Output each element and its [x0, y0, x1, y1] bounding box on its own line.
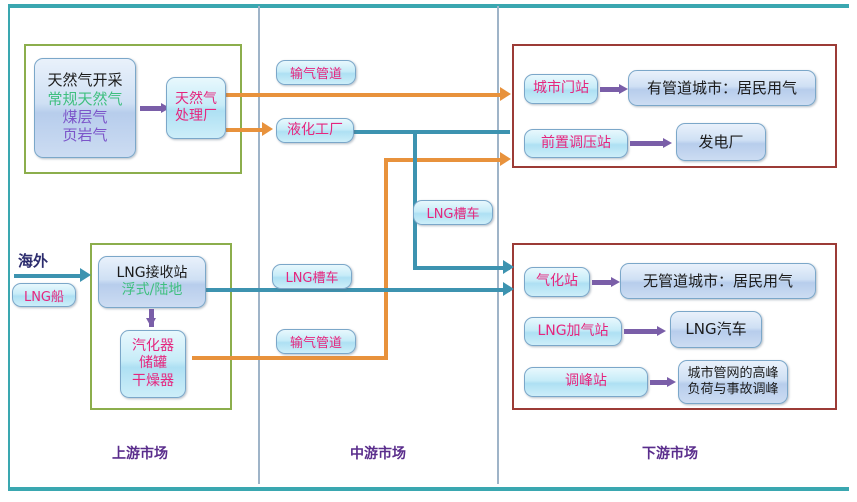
- node-gas-plant[interactable]: 天然气 处理厂: [166, 77, 226, 139]
- pipe-lng-to-gasification: [413, 266, 510, 270]
- node-lng-refuel-station-label: LNG加气站: [537, 323, 608, 340]
- arrow-peakshaving-to-peakload: [650, 377, 676, 387]
- pipe-lng-from-terminal: [196, 288, 510, 292]
- node-city-gate[interactable]: 城市门站: [524, 74, 598, 104]
- node-gas-plant-line-1: 处理厂: [175, 108, 217, 125]
- node-lng-terminal-line-0: LNG接收站: [116, 265, 187, 282]
- caption-downstream-market: 下游市场: [590, 443, 750, 463]
- node-peak-load[interactable]: 城市管网的高峰 负荷与事故调峰: [678, 360, 788, 404]
- caption-midstream-market: 中游市场: [298, 443, 458, 463]
- node-vaporizer[interactable]: 汽化器 储罐 干燥器: [120, 330, 186, 398]
- label-pipeline-top[interactable]: 输气管道: [276, 60, 356, 85]
- label-pipeline-bottom[interactable]: 输气管道: [276, 329, 356, 354]
- node-gas-plant-line-0: 天然气: [175, 91, 217, 108]
- arrowhead-gas-top: [500, 87, 511, 101]
- label-lng-ship[interactable]: LNG船: [12, 283, 76, 307]
- node-city-gate-label: 城市门站: [533, 80, 589, 97]
- node-gas-extraction[interactable]: 天然气开采 常规天然气 煤层气 页岩气: [34, 58, 136, 158]
- node-lng-terminal[interactable]: LNG接收站 浮式/陆地: [98, 256, 206, 308]
- pipe-gas-top: [226, 93, 506, 97]
- pipe-gas-riser: [384, 158, 388, 360]
- pipe-lng-ship-inbound: [14, 274, 86, 278]
- node-power-plant-label: 发电厂: [698, 133, 743, 151]
- node-piped-city-label: 有管道城市：居民用气: [647, 79, 797, 97]
- node-peak-shaving-station[interactable]: 调峰站: [524, 367, 648, 397]
- node-peak-shaving-station-label: 调峰站: [565, 373, 607, 390]
- node-gas-extraction-line-2: 煤层气: [47, 108, 122, 126]
- arrow-terminal-to-vaporizer: [146, 309, 156, 327]
- diagram-canvas: 天然气开采 常规天然气 煤层气 页岩气 天然气 处理厂 LNG接收站 浮式/陆地…: [0, 0, 857, 502]
- node-lng-vehicle[interactable]: LNG汽车: [670, 311, 762, 348]
- node-unpiped-city[interactable]: 无管道城市：居民用气: [620, 263, 816, 299]
- arrowhead-lng-upper: [503, 260, 514, 274]
- arrow-gasification-to-unpipedcity: [592, 277, 620, 287]
- node-liquefaction-plant[interactable]: 液化工厂: [276, 118, 354, 143]
- frame-bottom-border: [8, 487, 849, 491]
- node-lng-terminal-line-1: 浮式/陆地: [116, 282, 187, 299]
- pipe-lng-from-liquefaction: [354, 130, 510, 134]
- arrowhead-gas-to-liquefaction: [262, 122, 273, 136]
- node-lng-vehicle-label: LNG汽车: [685, 320, 746, 338]
- node-unpiped-city-label: 无管道城市：居民用气: [643, 272, 793, 290]
- column-divider-midstream-downstream: [497, 6, 499, 484]
- pipe-lng-drop: [413, 130, 417, 270]
- node-pre-regulator-label: 前置调压站: [541, 135, 611, 152]
- arrowhead-lng-ship: [80, 268, 91, 282]
- arrowhead-gas-mid: [500, 152, 511, 166]
- node-gas-extraction-line-1: 常规天然气: [47, 90, 122, 108]
- pipe-gas-from-vaporizer: [192, 356, 388, 360]
- caption-upstream-market: 上游市场: [60, 443, 220, 463]
- node-gas-extraction-line-3: 页岩气: [47, 126, 122, 144]
- node-gasification-station[interactable]: 气化站: [524, 267, 590, 297]
- node-piped-city[interactable]: 有管道城市：居民用气: [628, 70, 816, 106]
- arrow-citygate-to-pipedcity: [600, 84, 628, 94]
- label-overseas: 海外: [18, 250, 48, 271]
- label-lng-truck-low[interactable]: LNG槽车: [272, 264, 352, 289]
- column-divider-upstream-midstream: [258, 6, 260, 484]
- arrow-regulator-to-powerplant: [630, 138, 672, 148]
- node-peak-load-line-1: 负荷与事故调峰: [687, 382, 778, 398]
- node-pre-regulator[interactable]: 前置调压站: [524, 129, 628, 158]
- node-peak-load-line-0: 城市管网的高峰: [687, 366, 778, 382]
- label-lng-truck-mid[interactable]: LNG槽车: [413, 200, 493, 225]
- node-liquefaction-plant-label: 液化工厂: [287, 122, 343, 139]
- frame-left-border: [8, 4, 10, 491]
- node-power-plant[interactable]: 发电厂: [676, 123, 766, 161]
- arrowhead-lng-lower: [503, 282, 514, 296]
- arrow-refuel-to-vehicle: [624, 326, 666, 336]
- pipe-gas-mid: [384, 158, 506, 162]
- node-lng-refuel-station[interactable]: LNG加气站: [524, 317, 622, 346]
- node-vaporizer-line-0: 汽化器: [132, 338, 174, 355]
- node-gasification-station-label: 气化站: [536, 273, 578, 290]
- node-gas-extraction-line-0: 天然气开采: [47, 71, 122, 89]
- node-vaporizer-line-2: 干燥器: [132, 373, 174, 390]
- frame-top-border: [8, 4, 849, 8]
- node-vaporizer-line-1: 储罐: [132, 355, 174, 372]
